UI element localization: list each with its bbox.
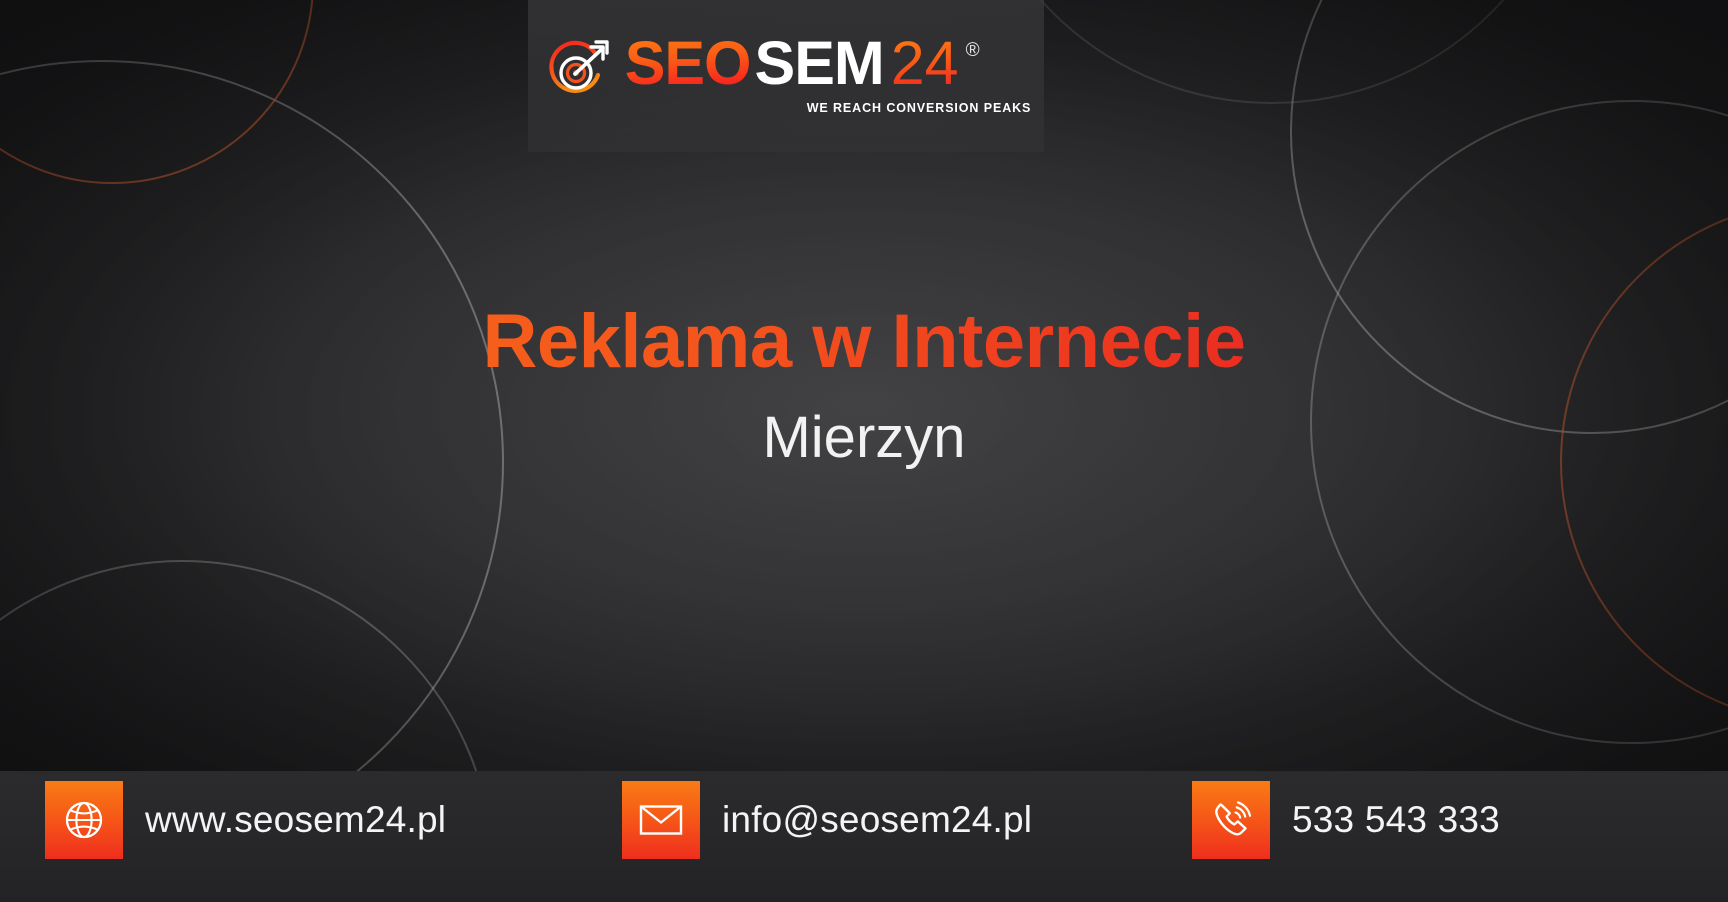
contact-items: www.seosem24.pl info@seosem24.pl [0, 772, 1728, 868]
email-text: info@seosem24.pl [722, 799, 1032, 841]
logo-word-seo: SEO [625, 33, 751, 94]
logo-text-block: SEO SEM 24 ® WE REACH CONVERSION PEAKS [625, 33, 1032, 115]
phone-text: 533 543 333 [1292, 799, 1500, 841]
website-text: www.seosem24.pl [145, 799, 446, 841]
contact-footer-bar: www.seosem24.pl info@seosem24.pl [0, 771, 1728, 902]
logo-word-24: 24 [891, 33, 959, 94]
contact-phone[interactable]: 533 543 333 [1192, 772, 1500, 868]
slide-canvas: SEO SEM 24 ® WE REACH CONVERSION PEAKS R… [0, 0, 1728, 902]
hero-block: Reklama w Internecie Mierzyn [0, 300, 1728, 469]
globe-icon [45, 781, 123, 859]
registered-trademark-icon: ® [966, 41, 980, 60]
contact-website[interactable]: www.seosem24.pl [45, 772, 446, 868]
contact-email[interactable]: info@seosem24.pl [622, 772, 1032, 868]
logo-panel: SEO SEM 24 ® WE REACH CONVERSION PEAKS [528, 0, 1044, 152]
decorative-circle-orange-left [0, 0, 314, 184]
page-title: Reklama w Internecie [0, 300, 1728, 384]
page-subtitle: Mierzyn [0, 406, 1728, 470]
target-arrow-icon [541, 37, 611, 112]
decorative-circle-grey-top-center [960, 0, 1584, 104]
logo-tagline: WE REACH CONVERSION PEAKS [807, 101, 1032, 115]
seosem24-logo: SEO SEM 24 ® WE REACH CONVERSION PEAKS [541, 33, 1032, 115]
logo-word-sem: SEM [755, 33, 884, 94]
logo-wordmark: SEO SEM 24 ® [625, 33, 1032, 94]
phone-ringing-icon [1192, 781, 1270, 859]
envelope-icon [622, 781, 700, 859]
